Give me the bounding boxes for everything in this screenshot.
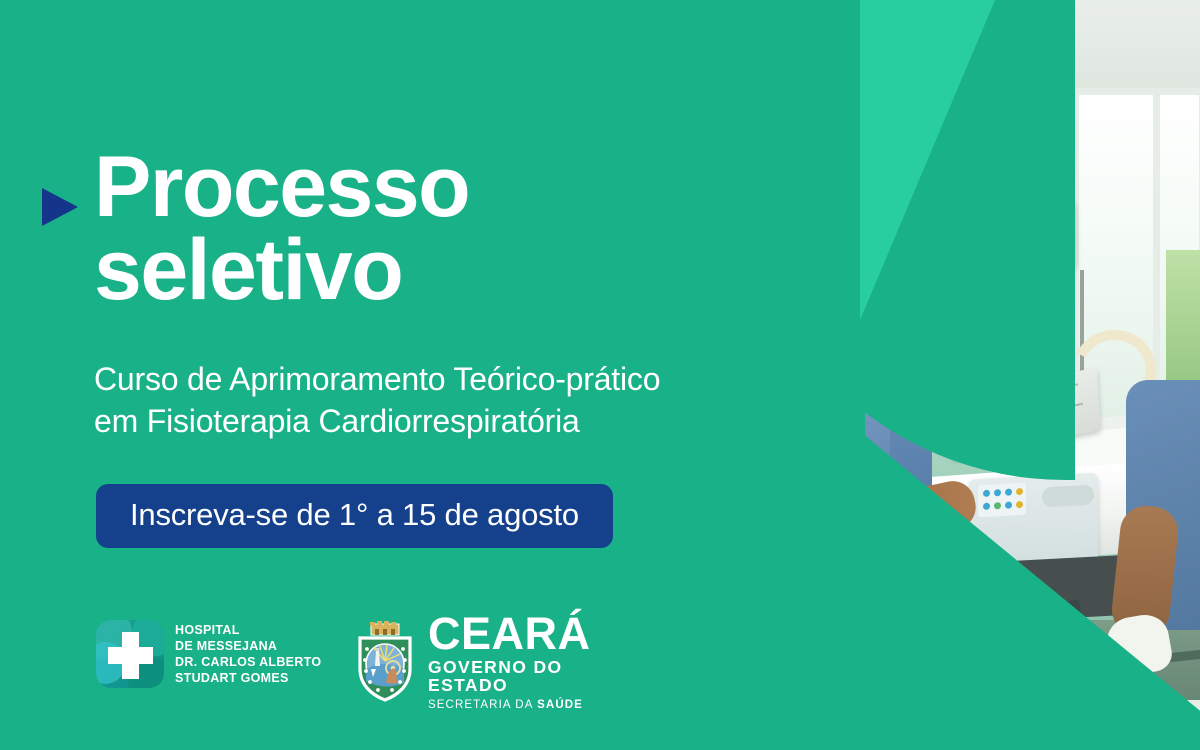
- subtitle-line-2: em Fisioterapia Cardiorrespiratória: [94, 403, 580, 439]
- icu-scene: 82 92 99 34.3: [740, 0, 1200, 750]
- bed-wheel-2: [1066, 632, 1098, 664]
- ecg-wave-3: [1003, 235, 1035, 239]
- monitor-knob: [1060, 253, 1067, 260]
- curtain-rail: [1060, 80, 1190, 87]
- ceara-government-label: GOVERNO DO ESTADO: [428, 659, 591, 694]
- ecg-wave-1: [1003, 212, 1037, 216]
- ceara-government-logo[interactable]: CEARÁ GOVERNO DO ESTADO SECRETARIA DA SA…: [354, 612, 591, 712]
- monitor-heart-rate: 82: [1052, 211, 1068, 225]
- ceara-coat-of-arms-icon: [354, 621, 416, 703]
- monitor-screen: 82 92 99 34.3: [1001, 204, 1071, 249]
- monitor-temperature: 34.3: [1047, 237, 1069, 248]
- hospital-photo: 82 92 99 34.3: [740, 0, 1200, 750]
- iv-bag-3: [992, 286, 1006, 312]
- hospital-cross-icon: [96, 620, 164, 688]
- title-line-2: seletivo: [94, 222, 402, 318]
- page-title: Processoseletivo: [94, 146, 469, 311]
- ceara-secretariat-label: SECRETARIA DA SAÚDE: [428, 700, 591, 712]
- course-subtitle: Curso de Aprimoramento Teórico-práticoem…: [94, 358, 784, 442]
- iv-bag-1: [952, 284, 966, 310]
- play-triangle-icon: [42, 188, 78, 226]
- ceara-name: CEARÁ: [428, 612, 591, 656]
- hospital-name-line-3: DR. CARLOS ALBERTO: [175, 654, 321, 670]
- banner-content: Processoseletivo Curso de Aprimoramento …: [0, 0, 800, 750]
- patient-monitor: 82 92 99 34.3: [997, 195, 1075, 266]
- ecg-wave-2: [1003, 224, 1033, 228]
- hospital-name-line-1: HOSPITAL: [175, 622, 321, 638]
- hospital-logo-text: HOSPITAL DE MESSEJANA DR. CARLOS ALBERTO…: [175, 622, 321, 687]
- ceara-logo-text: CEARÁ GOVERNO DO ESTADO SECRETARIA DA SA…: [428, 612, 591, 712]
- enroll-button[interactable]: Inscreva-se de 1° a 15 de agosto: [96, 484, 613, 548]
- promotional-banner: 82 92 99 34.3: [0, 0, 1200, 750]
- air-conditioner-panel: [1028, 114, 1056, 133]
- iv-bag-2: [972, 282, 986, 308]
- secretariat-prefix: SECRETARIA DA: [428, 699, 537, 711]
- hospital-logo[interactable]: HOSPITAL DE MESSEJANA DR. CARLOS ALBERTO…: [96, 620, 321, 688]
- hospital-name-line-4: STUDART GOMES: [175, 670, 321, 686]
- monitor-spo2-secondary: 99: [1061, 228, 1069, 236]
- bed-rail-handhold: [1042, 485, 1094, 508]
- secretariat-bold: SAÚDE: [537, 699, 583, 711]
- hospital-name-line-2: DE MESSEJANA: [175, 638, 321, 654]
- subtitle-line-1: Curso de Aprimoramento Teórico-prático: [94, 361, 660, 397]
- wall-instruction-card: [1018, 271, 1064, 326]
- bed-control-panel: [978, 483, 1026, 518]
- doctor-figure: [1116, 380, 1200, 750]
